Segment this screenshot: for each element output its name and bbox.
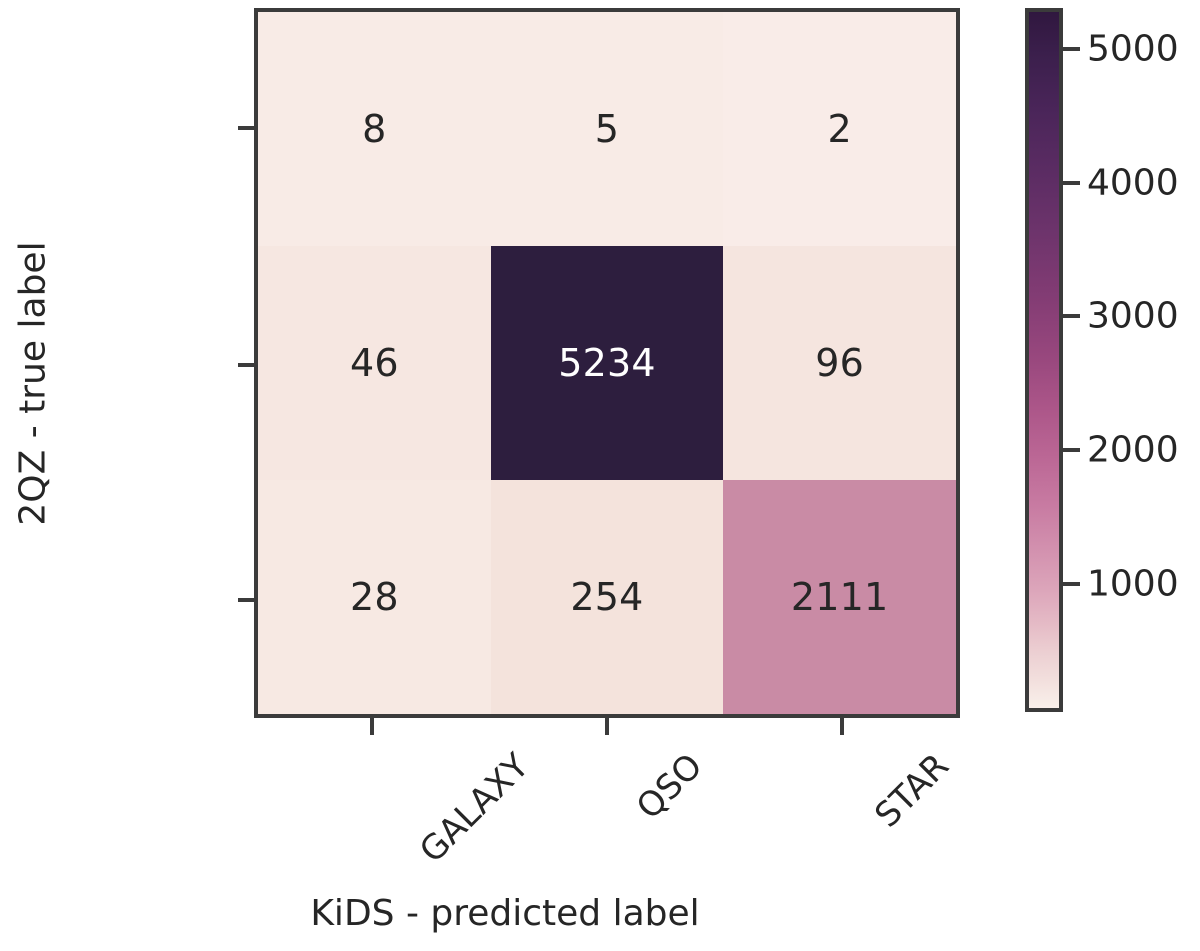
heatmap-cell[interactable]: 254	[491, 480, 724, 714]
colorbar-tick-mark-3000	[1063, 314, 1080, 318]
y-axis-title: 2QZ - true label	[13, 164, 54, 604]
colorbar-tick-mark-2000	[1063, 448, 1080, 452]
heatmap-cell-value: 96	[815, 344, 864, 382]
confusion-matrix-figure: GALAXY QSO STAR 2QZ - true label 8 5 2 4…	[0, 0, 1200, 951]
heatmap-cell-value: 5234	[558, 344, 656, 382]
colorbar-tick-mark-4000	[1063, 181, 1080, 185]
heatmap-cell[interactable]: 2	[723, 12, 956, 246]
y-tick-mark-qso	[238, 363, 255, 367]
colorbar-tick-label-4000: 4000	[1087, 163, 1179, 204]
heatmap-cell[interactable]: 46	[258, 246, 491, 480]
heatmap-grid: 8 5 2 46 5234 96 28 254	[258, 12, 956, 714]
heatmap-cell[interactable]: 8	[258, 12, 491, 246]
y-tick-mark-galaxy	[238, 126, 255, 130]
heatmap-cell[interactable]: 2111	[723, 480, 956, 714]
x-axis-title: KiDS - predicted label	[0, 893, 1010, 934]
colorbar-tick-label-5000: 5000	[1087, 29, 1179, 70]
x-tick-mark-star	[840, 718, 844, 735]
colorbar-gradient	[1025, 8, 1063, 712]
heatmap-cell-value: 8	[362, 110, 386, 148]
heatmap-cell[interactable]: 96	[723, 246, 956, 480]
x-tick-label-qso: QSO	[629, 746, 710, 827]
x-tick-mark-galaxy	[370, 718, 374, 735]
heatmap-cell-value: 2111	[791, 578, 889, 616]
x-tick-mark-qso	[605, 718, 609, 735]
heatmap-cell[interactable]: 5234	[491, 246, 724, 480]
heatmap-cell-value: 46	[350, 344, 399, 382]
colorbar-tick-mark-1000	[1063, 582, 1080, 586]
colorbar-tick-label-3000: 3000	[1087, 296, 1179, 337]
heatmap-cell[interactable]: 5	[491, 12, 724, 246]
colorbar-tick-mark-5000	[1063, 47, 1080, 51]
colorbar-tick-label-2000: 2000	[1087, 430, 1179, 471]
heatmap-cell-value: 2	[827, 110, 851, 148]
x-tick-label-star: STAR	[867, 746, 957, 836]
colorbar[interactable]: 5000 4000 3000 2000 1000	[1025, 8, 1063, 712]
heatmap-cell[interactable]: 28	[258, 480, 491, 714]
x-tick-label-galaxy: GALAXY	[412, 746, 537, 871]
heatmap-cell-value: 28	[350, 578, 399, 616]
heatmap-cell-value: 254	[570, 578, 643, 616]
y-tick-mark-star	[238, 598, 255, 602]
colorbar-tick-label-1000: 1000	[1087, 564, 1179, 605]
heatmap-cell-value: 5	[595, 110, 619, 148]
heatmap-plot-area: 8 5 2 46 5234 96 28 254	[254, 8, 960, 718]
